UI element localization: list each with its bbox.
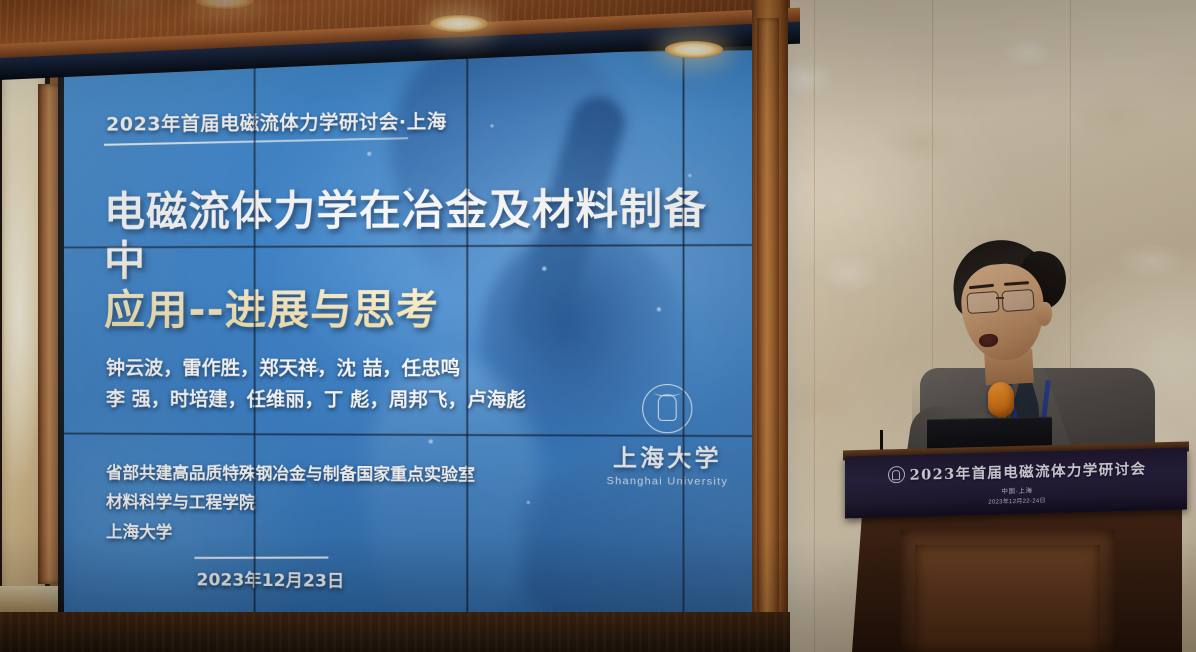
glasses-lens-right [1001,289,1034,312]
wooden-column-bead [757,18,779,638]
slide-title: 电磁流体力学在冶金及材料制备中 应用--进展与思考 [104,184,741,336]
university-name-cn: 上海大学 [594,438,741,473]
podium-panel-inner [915,545,1100,652]
downlight-icon [665,41,723,58]
presentation-slide: 2023年首届电磁流体力学研讨会·上海 电磁流体力学在冶金及材料制备中 应用--… [64,50,777,628]
glasses-lens-left [966,291,999,314]
shanghai-university-emblem-icon [888,466,905,483]
university-name-en: Shanghai University [594,475,741,488]
slide-kicker: 2023年首届电磁流体力学研讨会·上海 [106,106,447,136]
left-panel-glow [4,150,42,480]
slide-date: 2023年12月23日 [196,565,344,592]
slide-date-rule [194,557,328,559]
video-wall-seam-vertical [682,51,685,627]
conference-photo-scene: 2023年首届电磁流体力学研讨会·上海 电磁流体力学在冶金及材料制备中 应用--… [0,0,1196,652]
speaker-ear [1036,302,1052,326]
podium-banner-title: 2023年首届电磁流体力学研讨会 [910,458,1147,485]
podium-banner-location: 中国·上海 [1001,485,1032,496]
video-wall-seam-vertical [253,56,256,622]
video-wall-seam-vertical [466,53,469,624]
slide-title-line-2: 应用--进展与思考 [104,285,741,336]
slide-affiliation-line-3: 上海大学 [106,517,743,552]
video-wall-screen[interactable]: 2023年首届电磁流体力学研讨会·上海 电磁流体力学在冶金及材料制备中 应用--… [64,50,777,628]
screen-wood-base [0,612,790,652]
slide-authors-line-1: 钟云波，雷作胜，郑天祥，沈 喆，任忠鸣 [106,353,743,385]
glasses-bridge [996,297,1004,299]
podium-banner: 2023年首届电磁流体力学研讨会 中国·上海 2023年12月22-24日 [852,451,1182,516]
base-wood-grain [0,612,790,652]
downlight-icon [430,15,488,32]
left-door-sill [0,586,62,612]
slide-affiliation-line-2: 材料科学与工程学院 [106,488,743,522]
wall-seam [814,0,815,652]
podium-banner-dates: 2023年12月22-24日 [988,495,1046,506]
slide-title-line-1: 电磁流体力学在冶金及材料制备中 [104,184,741,286]
microphone-icon [988,382,1014,416]
podium-banner-title-row: 2023年首届电磁流体力学研讨会 [888,458,1147,486]
